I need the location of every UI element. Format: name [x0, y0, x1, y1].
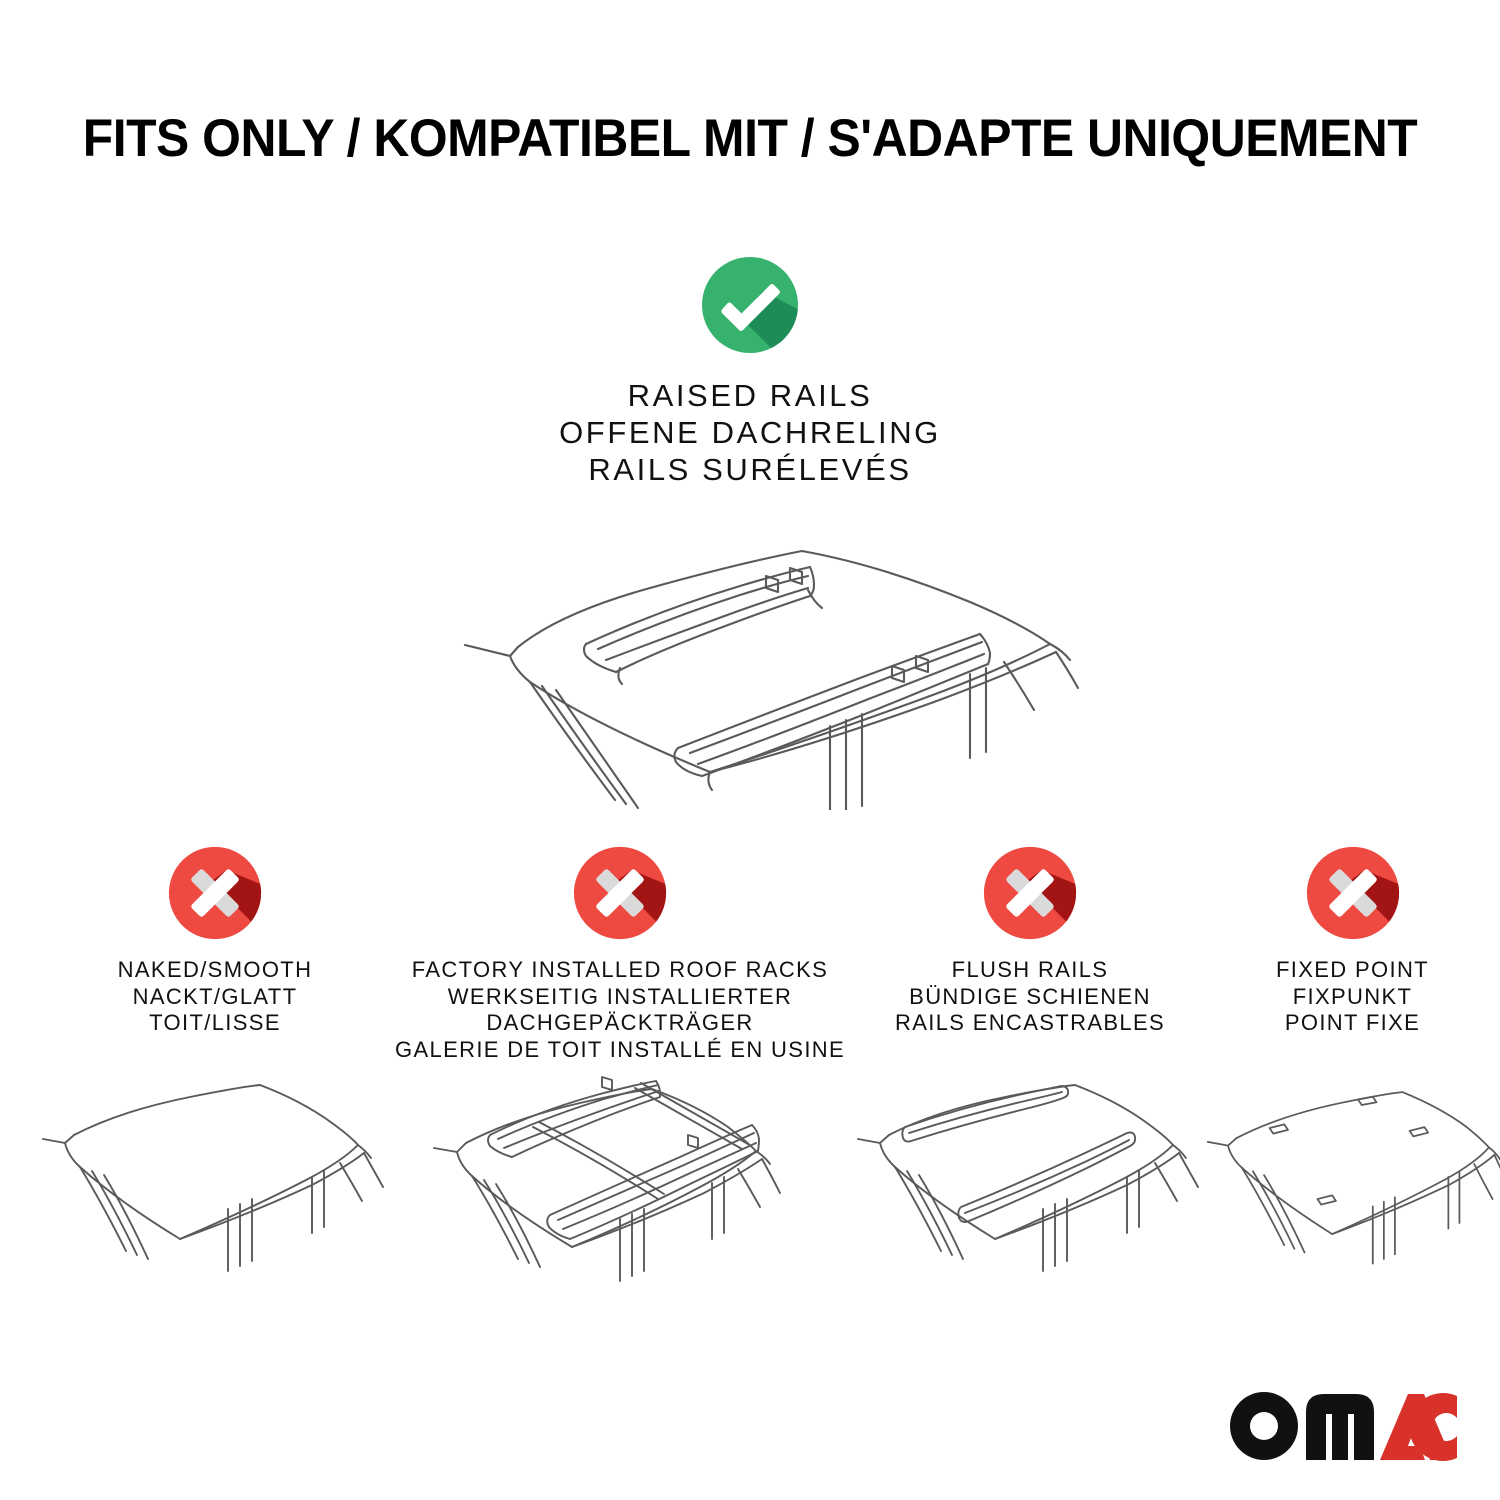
check-circle-icon [700, 255, 800, 355]
factory-roof-racks-label-line-1: FACTORY INSTALLED ROOF RACKS [395, 957, 845, 984]
compatible-label-line-1: RAISED RAILS [0, 377, 1500, 414]
incompatible-item-naked-smooth: NAKED/SMOOTH NACKT/GLATT TOIT/LISSE [40, 845, 390, 1291]
fixed-point-label-line-1: FIXED POINT [1205, 957, 1500, 984]
cross-circle-icon-wrap [855, 845, 1205, 945]
factory-roof-racks-label: FACTORY INSTALLED ROOF RACKS WERKSEITIG … [395, 957, 845, 1063]
omac-logo [1228, 1390, 1458, 1462]
logo-letter-m [1306, 1394, 1374, 1460]
fixed-point-label: FIXED POINT FIXPUNKT POINT FIXE [1205, 957, 1500, 1037]
check-circle-icon-wrap [0, 255, 1500, 363]
factory-roof-racks-label-line-3: DACHGEPÄCKTRÄGER [395, 1010, 845, 1037]
incompatible-item-factory-roof-racks: FACTORY INSTALLED ROOF RACKS WERKSEITIG … [395, 845, 845, 1313]
compatible-section: RAISED RAILS OFFENE DACHRELING RAILS SUR… [0, 255, 1500, 810]
compatible-label-line-2: OFFENE DACHRELING [0, 414, 1500, 451]
omac-logo-mark [1228, 1390, 1458, 1462]
naked-smooth-roof-drawing [40, 1061, 390, 1291]
page-title: FITS ONLY / KOMPATIBEL MIT / S'ADAPTE UN… [45, 108, 1455, 169]
flush-rails-label-line-2: BÜNDIGE SCHIENEN [855, 984, 1205, 1011]
naked-smooth-label-line-3: TOIT/LISSE [40, 1010, 390, 1037]
fixed-point-label-line-3: POINT FIXE [1205, 1010, 1500, 1037]
flush-rails-label: FLUSH RAILS BÜNDIGE SCHIENEN RAILS ENCAS… [855, 957, 1205, 1037]
naked-smooth-label-line-2: NACKT/GLATT [40, 984, 390, 1011]
incompatible-item-flush-rails: FLUSH RAILS BÜNDIGE SCHIENEN RAILS ENCAS… [855, 845, 1205, 1291]
factory-roof-racks-label-line-4: GALERIE DE TOIT INSTALLÉ EN USINE [395, 1037, 845, 1064]
logo-letter-o [1230, 1392, 1298, 1460]
cross-circle-icon-wrap [395, 845, 845, 945]
car-roof-factory-roof-racks-illustration [395, 1063, 845, 1313]
cross-circle-icon [167, 845, 263, 941]
raised-rails-roof-drawing [410, 510, 1090, 810]
cross-circle-icon [572, 845, 668, 941]
car-roof-flush-rails-illustration [855, 1061, 1205, 1291]
flush-rails-label-line-3: RAILS ENCASTRABLES [855, 1010, 1205, 1037]
compatible-label-line-3: RAILS SURÉLEVÉS [0, 451, 1500, 488]
flush-rails-label-line-1: FLUSH RAILS [855, 957, 1205, 984]
incompatible-item-fixed-point: FIXED POINT FIXPUNKT POINT FIXE [1205, 845, 1500, 1291]
cross-circle-icon [1305, 845, 1401, 941]
cross-circle-icon [982, 845, 1078, 941]
cross-circle-icon-wrap [1205, 845, 1500, 945]
fitment-infographic: FITS ONLY / KOMPATIBEL MIT / S'ADAPTE UN… [0, 0, 1500, 1500]
naked-smooth-label-line-1: NAKED/SMOOTH [40, 957, 390, 984]
car-roof-with-raised-rails-illustration [0, 510, 1500, 810]
car-roof-naked-smooth-illustration [40, 1061, 390, 1291]
factory-roof-racks-drawing [420, 1063, 820, 1313]
flush-rails-roof-drawing [855, 1061, 1205, 1291]
fixed-point-roof-drawing [1205, 1061, 1500, 1291]
cross-circle-icon-wrap [40, 845, 390, 945]
naked-smooth-label: NAKED/SMOOTH NACKT/GLATT TOIT/LISSE [40, 957, 390, 1037]
factory-roof-racks-label-line-2: WERKSEITIG INSTALLIERTER [395, 984, 845, 1011]
compatible-label: RAISED RAILS OFFENE DACHRELING RAILS SUR… [0, 377, 1500, 488]
fixed-point-label-line-2: FIXPUNKT [1205, 984, 1500, 1011]
car-roof-fixed-point-illustration [1205, 1061, 1500, 1291]
